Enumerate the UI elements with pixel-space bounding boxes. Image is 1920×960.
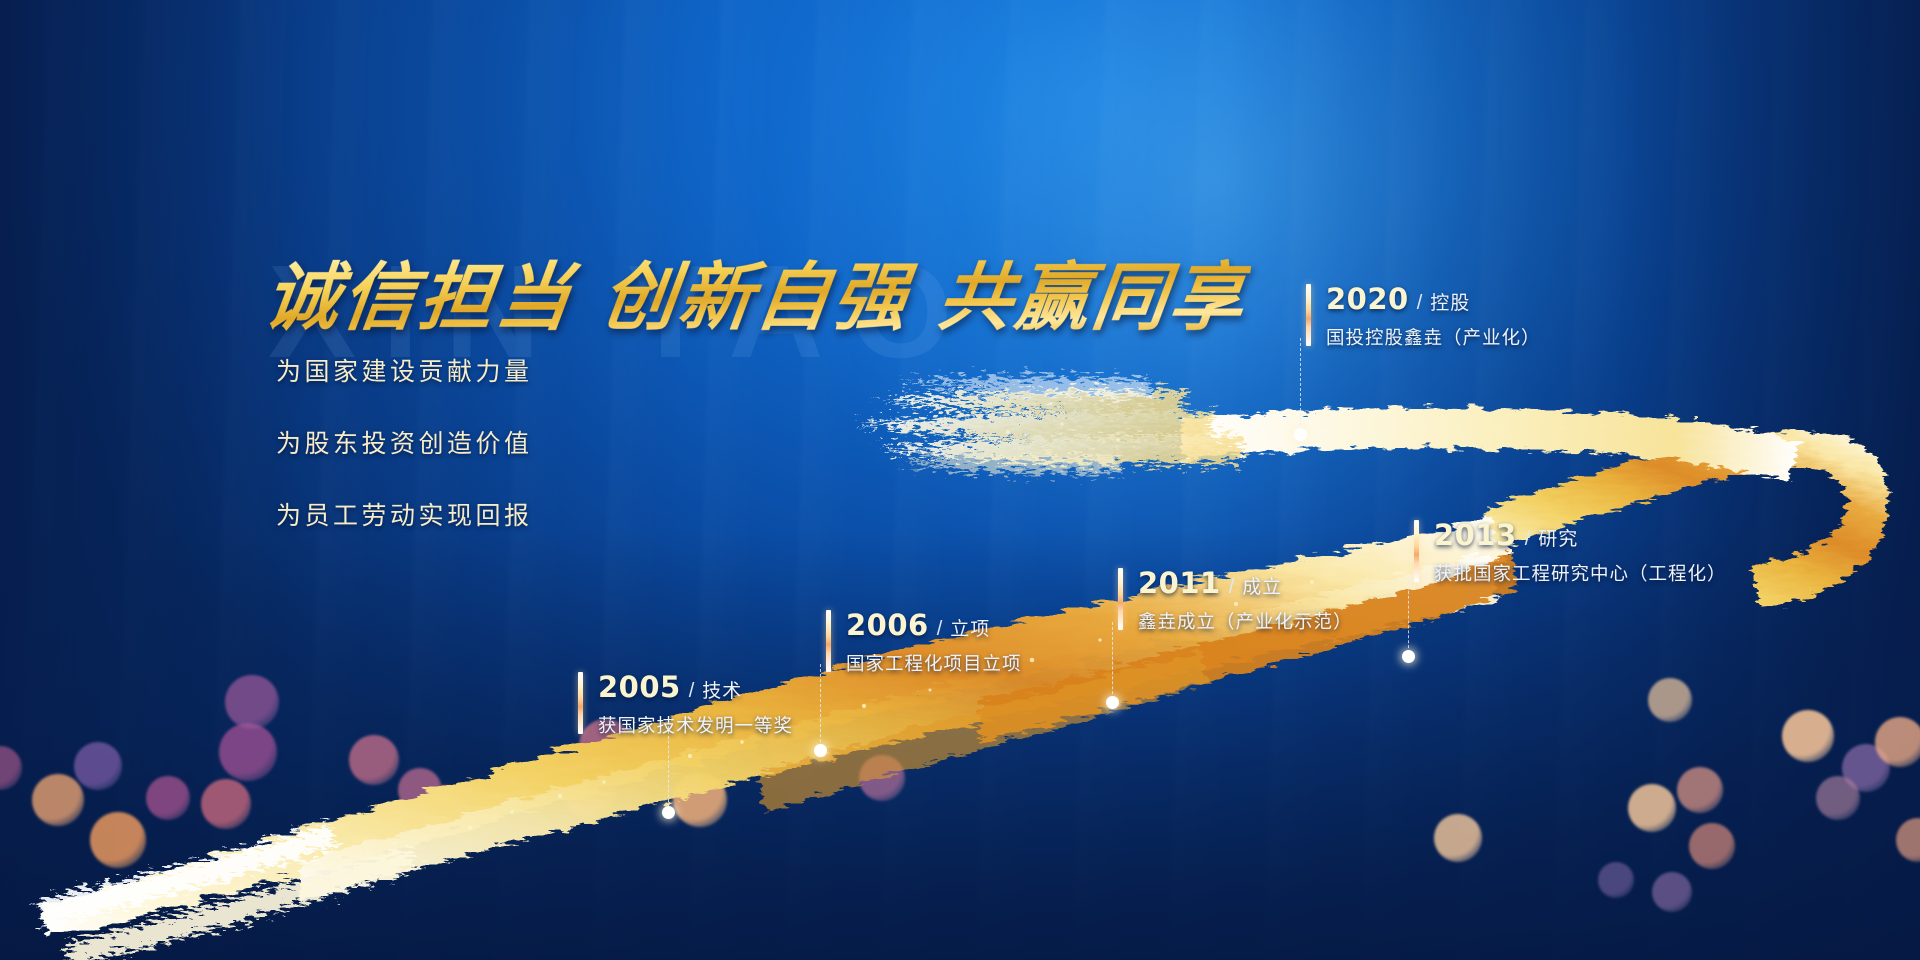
bokeh-circle (673, 773, 727, 827)
slogan-item-2: 为股东投资创造价值 (276, 424, 533, 460)
bokeh-circle (1677, 767, 1723, 813)
bokeh-circle (1689, 823, 1735, 869)
bokeh-circle (349, 735, 399, 785)
milestone-dot[interactable] (814, 744, 827, 757)
milestone-tag: 技术 (702, 676, 742, 703)
bokeh-circle (1875, 717, 1920, 767)
milestone-connector-line (820, 664, 821, 752)
bokeh-circle (219, 723, 277, 781)
bokeh-circle (859, 755, 905, 801)
bokeh-circle (425, 785, 467, 827)
milestone-accent-bar (578, 672, 583, 734)
milestone-text: 2006/立项国家工程化项目立项 (846, 608, 1022, 676)
milestone-year: 2020 (1326, 282, 1409, 316)
background-bottom-shade (0, 530, 1920, 960)
milestone-year: 2005 (598, 670, 681, 704)
milestone-year-row: 2005/技术 (598, 670, 793, 704)
milestone-year-row: 2011/成立 (1138, 566, 1353, 600)
slogan-list: 为国家建设贡献力量 为股东投资创造价值 为员工劳动实现回报 (276, 352, 533, 568)
bokeh-circle (32, 774, 84, 826)
milestone-connector-line (1300, 338, 1301, 426)
page-title: 诚信担当 创新自强 共赢同享 (259, 238, 1254, 345)
milestone-year-row: 2006/立项 (846, 608, 1022, 642)
milestone-tag: 立项 (950, 614, 990, 641)
milestone-text: 2005/技术获国家技术发明一等奖 (598, 670, 793, 738)
milestone-accent-bar (1306, 284, 1311, 346)
milestone-year-row: 2020/控股 (1326, 282, 1541, 316)
slogan-item-1: 为国家建设贡献力量 (276, 352, 533, 388)
milestone-tag: 成立 (1242, 572, 1282, 599)
milestone-description: 鑫垚成立（产业化示范） (1138, 608, 1353, 634)
milestone-separator: / (689, 680, 695, 703)
milestone-dot[interactable] (1402, 650, 1415, 663)
milestone-separator: / (1229, 576, 1235, 599)
milestone-description: 国家工程化项目立项 (846, 650, 1022, 676)
bokeh-circle (1648, 678, 1692, 722)
milestone-description: 获批国家工程研究中心（工程化） (1434, 560, 1727, 586)
bokeh-circle (201, 779, 251, 829)
milestone-text: 2013/研究获批国家工程研究中心（工程化） (1434, 518, 1727, 586)
milestone-tag: 控股 (1430, 288, 1470, 315)
slogan-item-3: 为员工劳动实现回报 (276, 496, 533, 532)
milestone-separator: / (1525, 528, 1531, 551)
milestone-dot[interactable] (1106, 696, 1119, 709)
milestone-accent-bar (1118, 568, 1123, 630)
milestone-year: 2006 (846, 608, 929, 642)
bokeh-circle (1782, 710, 1834, 762)
timeline-milestone-2011[interactable]: 2011/成立鑫垚成立（产业化示范） (1118, 566, 1353, 634)
milestone-description: 国投控股鑫垚（产业化） (1326, 324, 1541, 350)
bokeh-circle (1598, 862, 1634, 898)
timeline-milestone-2013[interactable]: 2013/研究获批国家工程研究中心（工程化） (1414, 518, 1727, 586)
milestone-accent-bar (826, 610, 831, 672)
milestone-separator: / (937, 618, 943, 641)
bokeh-circle (146, 776, 190, 820)
timeline-milestone-2006[interactable]: 2006/立项国家工程化项目立项 (826, 608, 1022, 676)
milestone-year-row: 2013/研究 (1434, 518, 1727, 552)
bokeh-circle (1652, 872, 1692, 912)
milestone-text: 2020/控股国投控股鑫垚（产业化） (1326, 282, 1541, 350)
milestone-accent-bar (1414, 520, 1419, 582)
bokeh-circle (90, 812, 146, 868)
milestone-dot[interactable] (662, 806, 675, 819)
milestone-separator: / (1417, 292, 1423, 315)
milestone-connector-line (668, 726, 669, 812)
timeline-milestone-2005[interactable]: 2005/技术获国家技术发明一等奖 (578, 670, 793, 738)
milestone-connector-line (1408, 576, 1409, 658)
bokeh-circle (564, 766, 616, 818)
bokeh-circle (225, 675, 279, 729)
milestone-year: 2013 (1434, 518, 1517, 552)
milestone-tag: 研究 (1538, 524, 1578, 551)
banner-stage: XIN YAO 诚信担当 创新自强 共赢同享 为国家建设贡献力量 为股东投资创造… (0, 0, 1920, 960)
milestone-year: 2011 (1138, 566, 1221, 600)
milestone-dot[interactable] (1294, 428, 1307, 441)
bokeh-circle (1628, 784, 1676, 832)
timeline-milestone-2020[interactable]: 2020/控股国投控股鑫垚（产业化） (1306, 282, 1541, 350)
milestone-description: 获国家技术发明一等奖 (598, 712, 793, 738)
bokeh-circle (1434, 814, 1482, 862)
bokeh-circle (74, 742, 122, 790)
milestone-text: 2011/成立鑫垚成立（产业化示范） (1138, 566, 1353, 634)
milestone-connector-line (1112, 622, 1113, 704)
bokeh-circle (1816, 776, 1860, 820)
